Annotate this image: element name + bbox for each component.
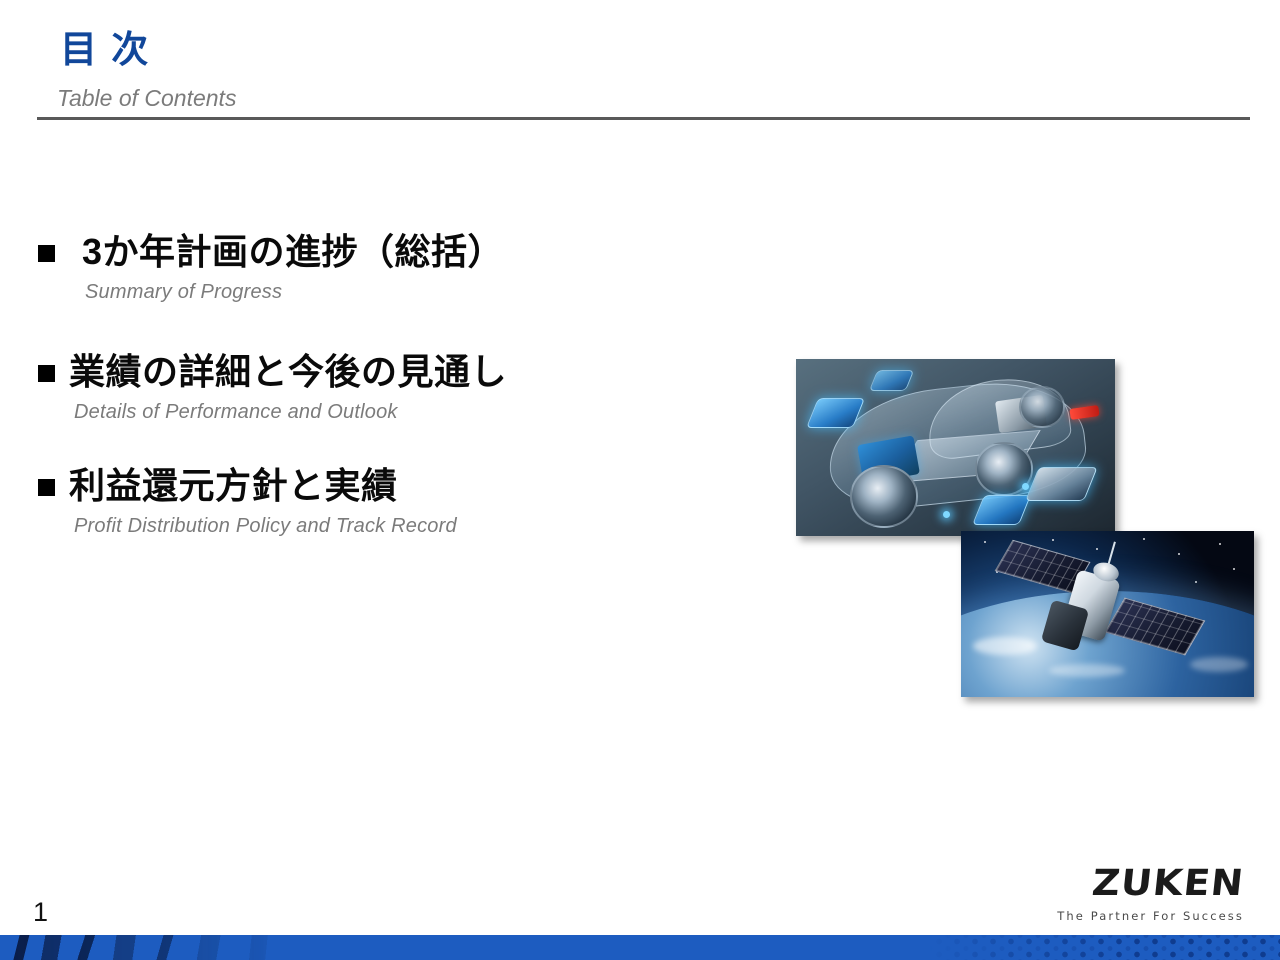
star-icon: [1096, 548, 1098, 550]
agenda-item-heading: 業績の詳細と今後の見通し: [38, 352, 507, 392]
connection-node-icon: [943, 511, 950, 518]
ecu-chip-icon: [868, 370, 914, 391]
star-icon: [1052, 539, 1054, 541]
agenda-item-heading: 3か年計画の進捗（総括）: [38, 232, 504, 272]
star-icon: [1178, 553, 1180, 555]
star-icon: [1195, 581, 1197, 583]
bullet-square-icon: [38, 479, 55, 496]
list-item[interactable]: 3か年計画の進捗（総括） Summary of Progress: [38, 232, 504, 304]
car-wheel-rear-right-shape: [1019, 386, 1064, 429]
bullet-square-icon: [38, 245, 55, 262]
header-divider: [37, 117, 1250, 120]
page-number: 1: [33, 897, 48, 928]
star-icon: [1233, 568, 1235, 570]
cloud-shape: [1049, 664, 1125, 677]
star-icon: [1219, 543, 1221, 545]
star-icon: [984, 541, 986, 543]
zuken-wordmark: ZUKEN: [1044, 866, 1246, 902]
slide-header: 目 次 Table of Contents: [0, 0, 1280, 130]
bullet-square-icon: [38, 365, 55, 382]
zuken-logo: ZUKEN The Partner For Success: [1057, 866, 1244, 923]
agenda-item-label-ja: 3か年計画の進捗（総括）: [82, 232, 504, 272]
agenda-item-label-ja: 利益還元方針と実績: [69, 466, 398, 506]
satellite-orbit-image: [961, 531, 1254, 697]
ecu-chip-icon: [972, 495, 1031, 525]
agenda-item-heading: 利益還元方針と実績: [38, 466, 457, 506]
agenda-item-label-ja: 業績の詳細と今後の見通し: [69, 352, 507, 392]
car-wheel-front-left-shape: [850, 465, 918, 527]
list-item[interactable]: 利益還元方針と実績 Profit Distribution Policy and…: [38, 466, 457, 538]
page-title: 目 次: [60, 30, 150, 71]
agenda-item-label-en: Summary of Progress: [85, 281, 504, 304]
page-subtitle: Table of Contents: [57, 85, 236, 112]
ecu-module-icon: [1025, 467, 1098, 501]
cloud-shape: [1190, 657, 1249, 672]
footer-bar: [0, 935, 1280, 960]
car-taillight-shape: [1070, 405, 1100, 420]
zuken-tagline: The Partner For Success: [1057, 909, 1244, 923]
automotive-xray-image: [796, 359, 1115, 536]
agenda-item-label-en: Details of Performance and Outlook: [74, 401, 507, 424]
footer-streak-pattern: [0, 935, 320, 960]
star-icon: [1143, 538, 1145, 540]
agenda-item-label-en: Profit Distribution Policy and Track Rec…: [74, 515, 457, 538]
footer-dot-pattern: [930, 935, 1280, 960]
list-item[interactable]: 業績の詳細と今後の見通し Details of Performance and …: [38, 352, 507, 424]
